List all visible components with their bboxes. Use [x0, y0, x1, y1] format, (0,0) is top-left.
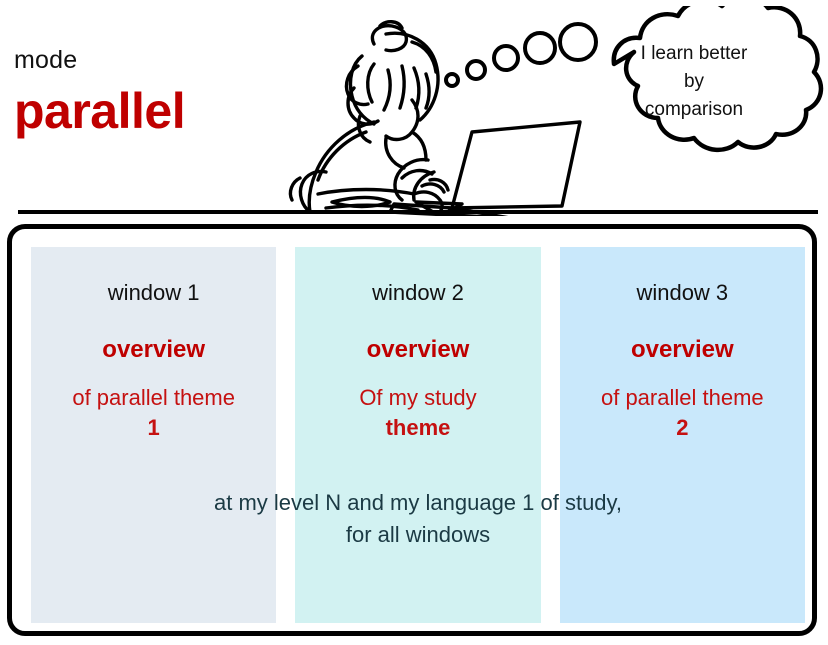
- window-1-title: window 1: [31, 279, 276, 307]
- window-1-overview-label: overview: [31, 335, 276, 365]
- window-panel-3[interactable]: window 3 overview of parallel theme 2: [560, 247, 805, 623]
- window-panel-2[interactable]: window 2 overview Of my study theme: [295, 247, 540, 623]
- window-3-theme-num: 2: [566, 413, 799, 443]
- window-1-theme-text: of parallel theme: [72, 385, 235, 410]
- window-2-theme-num: theme: [301, 413, 534, 443]
- desk-line: [18, 210, 818, 214]
- thought-bubble-text: I learn better by comparison: [606, 40, 782, 124]
- window-2-overview-label: overview: [295, 335, 540, 365]
- window-3-title: window 3: [560, 279, 805, 307]
- window-3-theme-text: of parallel theme: [601, 385, 764, 410]
- window-3-overview-label: overview: [560, 335, 805, 365]
- panels-row: window 1 overview of parallel theme 1 wi…: [31, 247, 805, 623]
- thought-line-3: comparison: [606, 96, 782, 124]
- window-panel-1[interactable]: window 1 overview of parallel theme 1: [31, 247, 276, 623]
- mode-value: parallel: [14, 82, 185, 140]
- window-2-theme-desc: Of my study theme: [295, 383, 540, 443]
- window-3-theme-desc: of parallel theme 2: [560, 383, 805, 443]
- thought-line-1: I learn better: [606, 40, 782, 68]
- window-2-title: window 2: [295, 279, 540, 307]
- window-1-theme-desc: of parallel theme 1: [31, 383, 276, 443]
- thought-line-2: by: [606, 68, 782, 96]
- window-1-theme-num: 1: [37, 413, 270, 443]
- window-2-theme-text: Of my study: [359, 385, 476, 410]
- mode-label: mode: [14, 46, 77, 74]
- header-area: mode parallel: [0, 0, 828, 224]
- windows-container: window 1 overview of parallel theme 1 wi…: [7, 224, 817, 636]
